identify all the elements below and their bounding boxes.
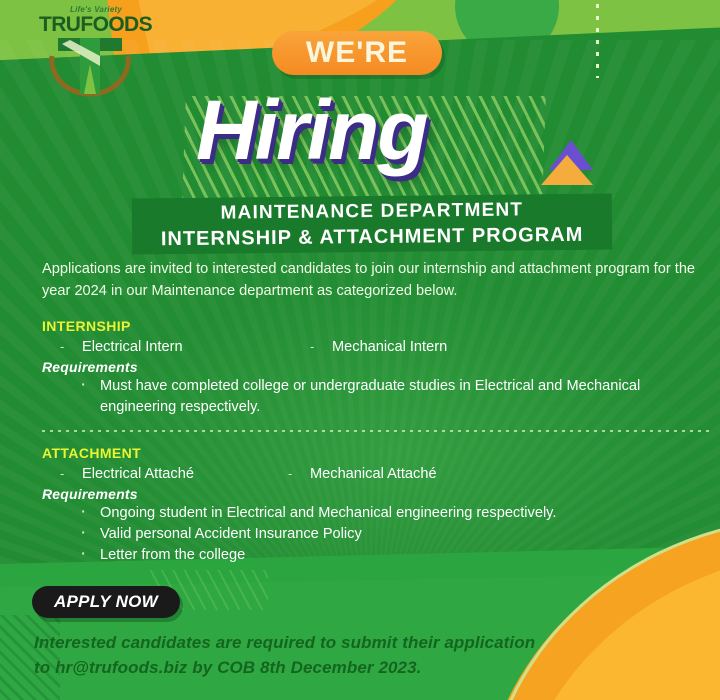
bullet-dash: -	[270, 463, 310, 485]
role-label: Electrical Attaché	[82, 463, 194, 485]
apply-now-label: APPLY NOW	[54, 592, 158, 612]
requirements-label-attachment: Requirements	[42, 486, 714, 502]
role-item: - Electrical Intern	[42, 336, 292, 358]
requirement-item: Valid personal Accident Insurance Policy	[42, 524, 714, 545]
requirement-item: Letter from the college	[42, 545, 714, 566]
orange-triangle-icon	[541, 155, 593, 185]
bullet-dash: -	[292, 336, 332, 358]
apply-now-button[interactable]: APPLY NOW	[32, 586, 180, 618]
program-line: INTERNSHIP & ATTACHMENT PROGRAM	[132, 221, 612, 252]
role-label: Electrical Intern	[82, 336, 183, 358]
role-item: - Mechanical Intern	[292, 336, 447, 358]
were-label: WE'RE	[306, 38, 408, 68]
section-internship: INTERNSHIP - Electrical Intern - Mechani…	[42, 318, 714, 418]
role-label: Mechanical Intern	[332, 336, 447, 358]
trufoods-t-emblem-icon	[44, 34, 136, 98]
section-title-internship: INTERNSHIP	[42, 318, 714, 334]
hiring-title: Hiring	[196, 88, 427, 172]
dotted-divider	[42, 430, 714, 432]
requirements-list-attachment: Ongoing student in Electrical and Mechan…	[42, 503, 714, 566]
trufoods-logo: Life's Variety TRUFOODS	[30, 2, 150, 98]
dotted-vertical-line	[596, 4, 599, 78]
requirements-list-internship: Must have completed college or undergrad…	[42, 376, 714, 418]
section-attachment: ATTACHMENT - Electrical Attaché - Mechan…	[42, 445, 714, 566]
section-title-attachment: ATTACHMENT	[42, 445, 714, 461]
bullet-dash: -	[42, 336, 82, 358]
intro-paragraph: Applications are invited to interested c…	[42, 258, 714, 302]
were-badge: WE'RE	[272, 31, 442, 75]
subtitle-text: MAINTENANCE DEPARTMENT INTERNSHIP & ATTA…	[132, 196, 613, 252]
role-item: - Mechanical Attaché	[270, 463, 437, 485]
hiring-poster: Life's Variety TRUFOODS WE'RE Hiring MAI…	[0, 0, 720, 700]
requirements-label-internship: Requirements	[42, 359, 714, 375]
requirement-item: Must have completed college or undergrad…	[42, 376, 714, 418]
requirement-item: Ongoing student in Electrical and Mechan…	[42, 503, 714, 524]
roles-internship: - Electrical Intern - Mechanical Intern	[42, 336, 714, 358]
roles-attachment: - Electrical Attaché - Mechanical Attach…	[42, 463, 714, 485]
role-label: Mechanical Attaché	[310, 463, 437, 485]
bullet-dash: -	[42, 463, 82, 485]
role-item: - Electrical Attaché	[42, 463, 270, 485]
